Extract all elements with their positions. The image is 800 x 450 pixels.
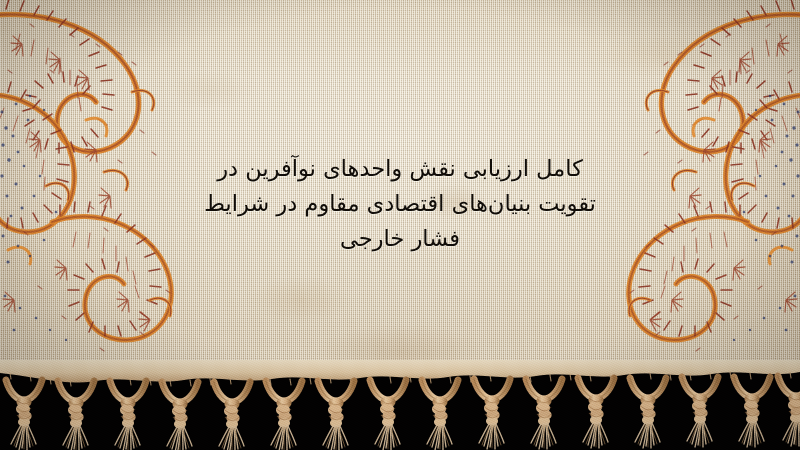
embroidered-cloth-panel: کامل ارزیابی نقش واحدهای نوآفرین در تقوی…: [0, 0, 800, 374]
knotted-tassel-fringe: [0, 360, 800, 450]
page-title: کامل ارزیابی نقش واحدهای نوآفرین در تقوی…: [196, 152, 604, 257]
title-card: کامل ارزیابی نقش واحدهای نوآفرین در تقوی…: [0, 0, 800, 450]
